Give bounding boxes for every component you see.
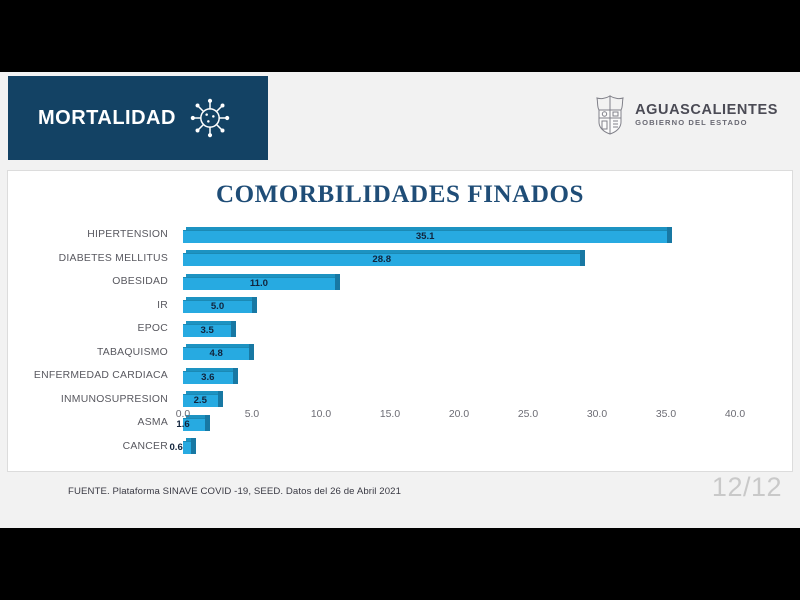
bar[interactable]: 35.1 — [183, 227, 672, 243]
x-axis-tick-label: 15.0 — [365, 409, 415, 420]
bar-side-face — [191, 438, 196, 454]
bar-row: INMUNOSUPRESION2.5 — [8, 388, 792, 412]
bar-row: TABAQUISMO4.8 — [8, 341, 792, 365]
x-axis-tick-label: 25.0 — [503, 409, 553, 420]
bar-row: DIABETES MELLITUS28.8 — [8, 247, 792, 271]
bar-category-label: CANCER — [8, 435, 168, 459]
bar-row: IR5.0 — [8, 294, 792, 318]
slide-viewer: MORTALIDAD — [0, 0, 800, 600]
page-number: 12/12 — [712, 472, 782, 503]
section-title-band: MORTALIDAD — [8, 76, 268, 160]
bar[interactable]: 28.8 — [183, 250, 585, 266]
bar-value-label: 11.0 — [183, 277, 335, 290]
bar[interactable]: 3.6 — [183, 368, 238, 384]
bar[interactable]: 0.6 — [183, 438, 196, 454]
bar[interactable]: 5.0 — [183, 297, 257, 313]
bar-value-label: 35.1 — [183, 230, 667, 243]
bar[interactable]: 4.8 — [183, 344, 254, 360]
source-note: FUENTE. Plataforma SINAVE COVID -19, SEE… — [68, 486, 401, 497]
slide-header: MORTALIDAD — [0, 72, 800, 164]
bar-category-label: OBESIDAD — [8, 270, 168, 294]
chart-title: COMORBILIDADES FINADOS — [8, 181, 792, 209]
bar-value-label: 5.0 — [183, 300, 252, 313]
x-axis-tick-label: 10.0 — [296, 409, 346, 420]
bar-row: HIPERTENSION35.1 — [8, 223, 792, 247]
x-axis-tick-label: 30.0 — [572, 409, 622, 420]
bar-category-label: TABAQUISMO — [8, 341, 168, 365]
bar-side-face — [335, 274, 340, 290]
state-crest-icon — [593, 94, 627, 136]
bar-value-label: 28.8 — [183, 253, 580, 266]
bar-side-face — [667, 227, 672, 243]
logo-subtitle: GOBIERNO DEL ESTADO — [635, 119, 778, 127]
coronavirus-icon — [190, 98, 230, 138]
bar-side-face — [231, 321, 236, 337]
bar-side-face — [249, 344, 254, 360]
x-axis: 0.05.010.015.020.025.030.035.040.0 — [8, 409, 792, 431]
bar-value-label: 0.6 — [161, 441, 191, 454]
bar-category-label: INMUNOSUPRESION — [8, 388, 168, 412]
bar-category-label: HIPERTENSION — [8, 223, 168, 247]
bar[interactable]: 11.0 — [183, 274, 340, 290]
presentation-slide: MORTALIDAD — [0, 72, 800, 528]
bar-row: CANCER0.6 — [8, 435, 792, 459]
bar-value-label: 3.6 — [183, 371, 233, 384]
bar-category-label: EPOC — [8, 317, 168, 341]
chart-panel: COMORBILIDADES FINADOS HIPERTENSION35.1D… — [7, 170, 793, 472]
bar-value-label: 2.5 — [183, 394, 218, 407]
bar[interactable]: 2.5 — [183, 391, 223, 407]
bar-category-label: DIABETES MELLITUS — [8, 247, 168, 271]
bar-row: OBESIDAD11.0 — [8, 270, 792, 294]
chart-plot-area: HIPERTENSION35.1DIABETES MELLITUS28.8OBE… — [8, 223, 792, 471]
bar-side-face — [580, 250, 585, 266]
government-logo: AGUASCALIENTES GOBIERNO DEL ESTADO — [593, 94, 778, 136]
x-axis-tick-label: 20.0 — [434, 409, 484, 420]
bar-row: EPOC3.5 — [8, 317, 792, 341]
bar-value-label: 3.5 — [183, 324, 231, 337]
section-title-label: MORTALIDAD — [38, 107, 176, 130]
x-axis-tick-label: 0.0 — [158, 409, 208, 420]
bar-value-label: 4.8 — [183, 347, 249, 360]
bar-category-label: IR — [8, 294, 168, 318]
x-axis-tick-label: 5.0 — [227, 409, 277, 420]
x-axis-tick-label: 35.0 — [641, 409, 691, 420]
bar-side-face — [252, 297, 257, 313]
bar-side-face — [218, 391, 223, 407]
x-axis-tick-label: 40.0 — [710, 409, 760, 420]
bar-category-label: ENFERMEDAD CARDIACA — [8, 364, 168, 388]
bar[interactable]: 3.5 — [183, 321, 236, 337]
logo-text-block: AGUASCALIENTES GOBIERNO DEL ESTADO — [635, 103, 778, 128]
logo-title: AGUASCALIENTES — [635, 103, 778, 119]
bar-side-face — [233, 368, 238, 384]
bar-row: ENFERMEDAD CARDIACA3.6 — [8, 364, 792, 388]
